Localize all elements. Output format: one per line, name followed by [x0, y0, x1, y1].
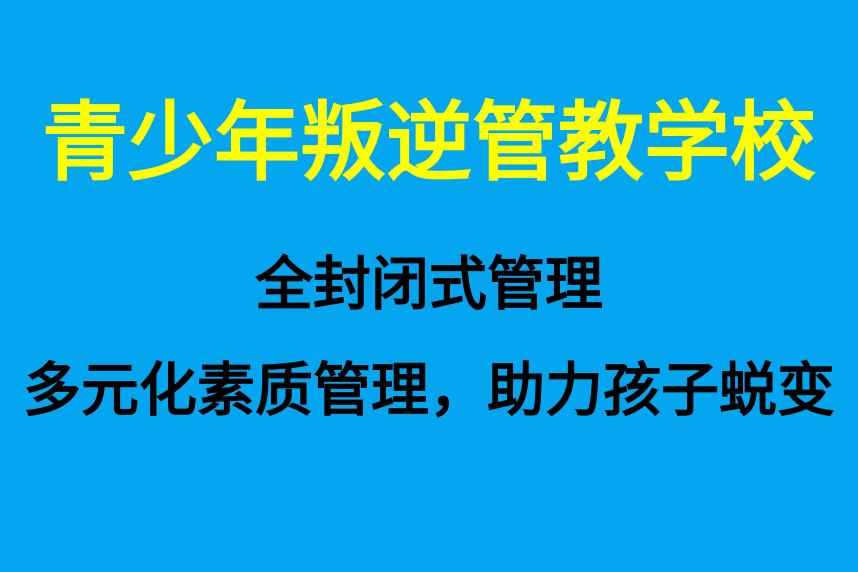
poster-canvas: 青少年叛逆管教学校 全封闭式管理 多元化素质管理，助力孩子蜕变	[0, 0, 858, 572]
poster-subline-primary: 全封闭式管理	[0, 256, 858, 314]
poster-subline-secondary: 多元化素质管理，助力孩子蜕变	[0, 362, 858, 420]
poster-headline: 青少年叛逆管教学校	[0, 100, 858, 186]
